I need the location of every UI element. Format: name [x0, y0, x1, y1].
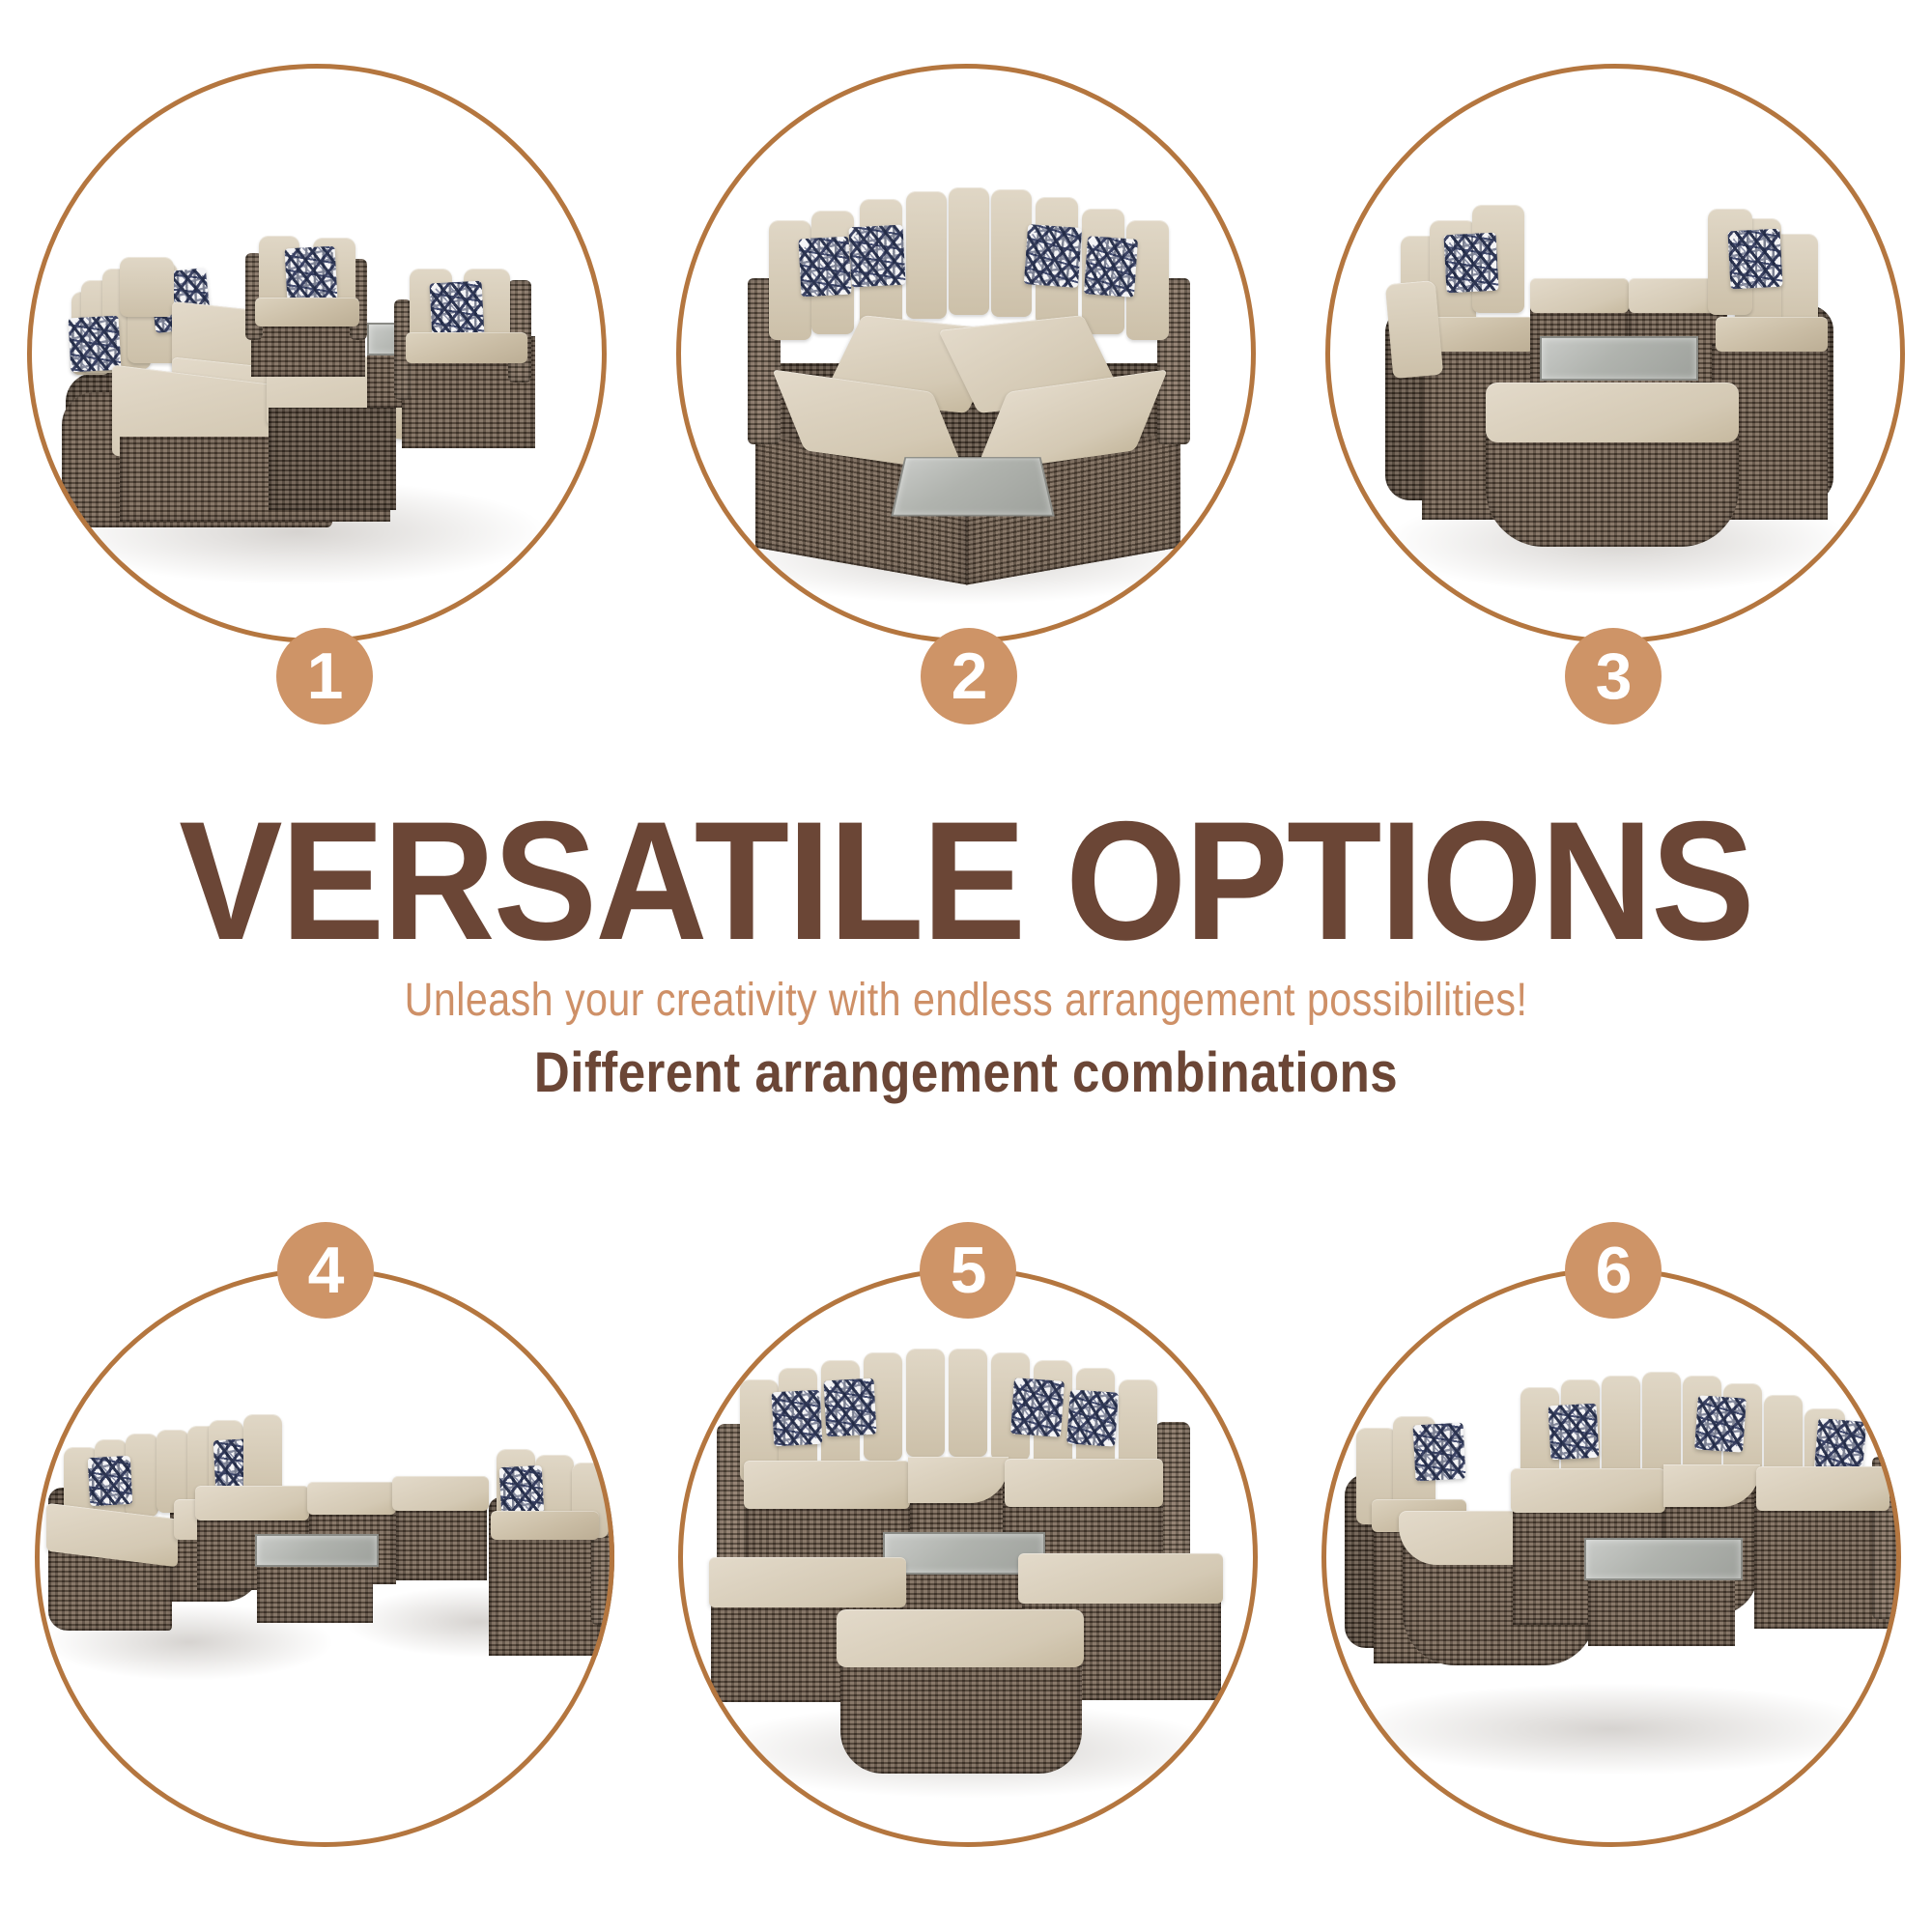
option-6-ring: [1321, 1267, 1901, 1847]
option-5-number: 5: [951, 1237, 986, 1303]
headline-block: VERSATILE OPTIONS Unleash your creativit…: [0, 802, 1932, 1105]
page-caption: Different arrangement combinations: [116, 1040, 1816, 1105]
option-2-number: 2: [952, 643, 987, 709]
option-6-badge[interactable]: 6: [1565, 1222, 1662, 1319]
option-5-ring: [678, 1267, 1258, 1847]
page-title: VERSATILE OPTIONS: [77, 802, 1855, 962]
option-6-number: 6: [1596, 1237, 1632, 1303]
option-2-ring: [676, 64, 1256, 643]
option-2-badge[interactable]: 2: [921, 628, 1017, 724]
option-1-ring: [27, 64, 607, 643]
option-4-ring: [35, 1267, 614, 1847]
option-1-number: 1: [307, 643, 343, 709]
option-3-badge[interactable]: 3: [1565, 628, 1662, 724]
option-3-ring: [1325, 64, 1905, 643]
option-4-number: 4: [308, 1237, 344, 1303]
page-subtitle: Unleash your creativity with endless arr…: [135, 974, 1797, 1027]
option-5-badge[interactable]: 5: [920, 1222, 1016, 1319]
option-4-badge[interactable]: 4: [277, 1222, 374, 1319]
option-1-badge[interactable]: 1: [276, 628, 373, 724]
infographic-canvas: 1: [0, 0, 1932, 1932]
option-3-number: 3: [1596, 643, 1632, 709]
